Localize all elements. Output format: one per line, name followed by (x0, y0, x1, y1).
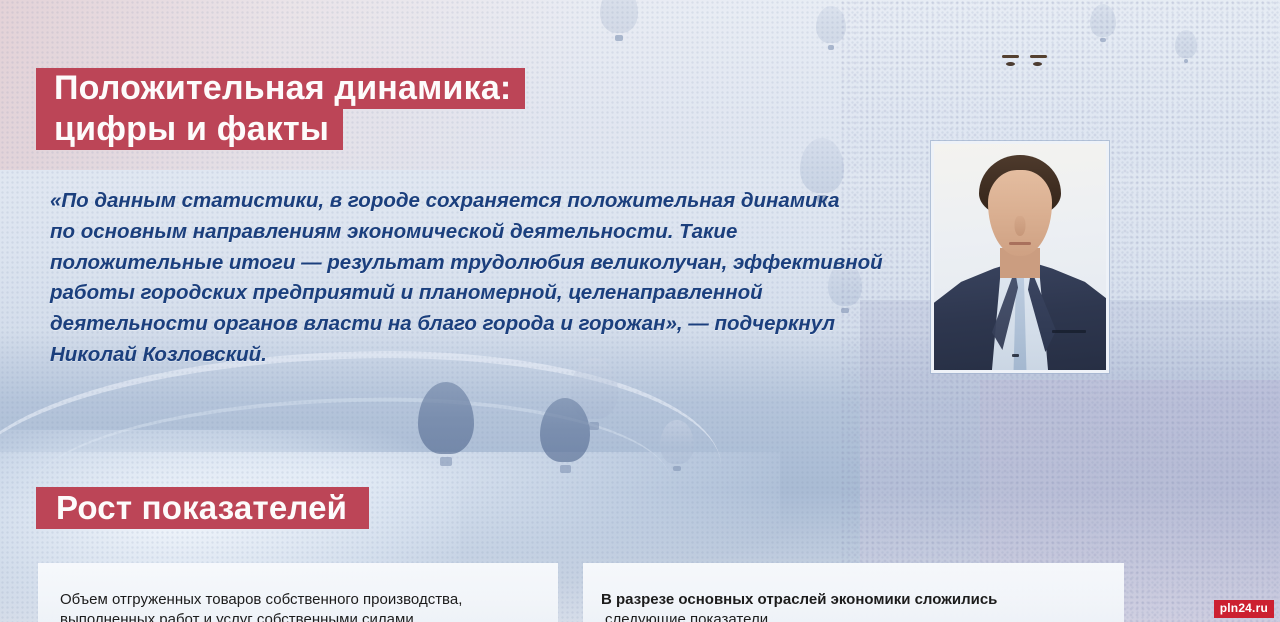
stat-panel-right: В разрезе основных отраслей экономики сл… (583, 563, 1124, 622)
portrait-photo (931, 141, 1109, 373)
site-watermark: pln24.ru (1214, 600, 1274, 618)
stat-panel-right-line2: следующие показатели (605, 610, 768, 622)
quote-line: положительные итоги — результат трудолюб… (50, 248, 930, 279)
quote-block: «По данным статистики, в городе сохраняе… (50, 186, 930, 371)
portrait-nose (1015, 216, 1026, 236)
stat-panel-left-line1: Объем отгруженных товаров собственного п… (60, 590, 548, 610)
stat-panel-left: Объем отгруженных товаров собственного п… (38, 563, 558, 622)
portrait-image (934, 144, 1106, 370)
quote-line: деятельности органов власти на благо гор… (50, 309, 930, 340)
portrait-pocket (1052, 330, 1086, 333)
quote-line: Николай Козловский. (50, 340, 930, 371)
quote-line: по основным направлениям экономической д… (50, 217, 930, 248)
stat-panel-right-line1: В разрезе основных отраслей экономики сл… (601, 590, 1114, 610)
page-title-line1: Положительная динамика: (36, 68, 525, 109)
portrait-eye-left (1006, 62, 1015, 66)
infographic-slide: Положительная динамика: цифры и факты «П… (0, 0, 1280, 622)
quote-line: работы городских предприятий и планомерн… (50, 278, 930, 309)
portrait-mouth (1009, 242, 1031, 245)
section-heading-growth: Рост показателей (36, 487, 369, 529)
portrait-brow-right (1030, 55, 1047, 58)
portrait-eye-right (1033, 62, 1042, 66)
portrait-button (1012, 354, 1019, 357)
stat-panel-left-line2: выполненных работ и услуг собственными с… (60, 610, 414, 622)
portrait-brow-left (1002, 55, 1019, 58)
quote-line: «По данным статистики, в городе сохраняе… (50, 186, 930, 217)
page-title-line2: цифры и факты (36, 109, 343, 150)
